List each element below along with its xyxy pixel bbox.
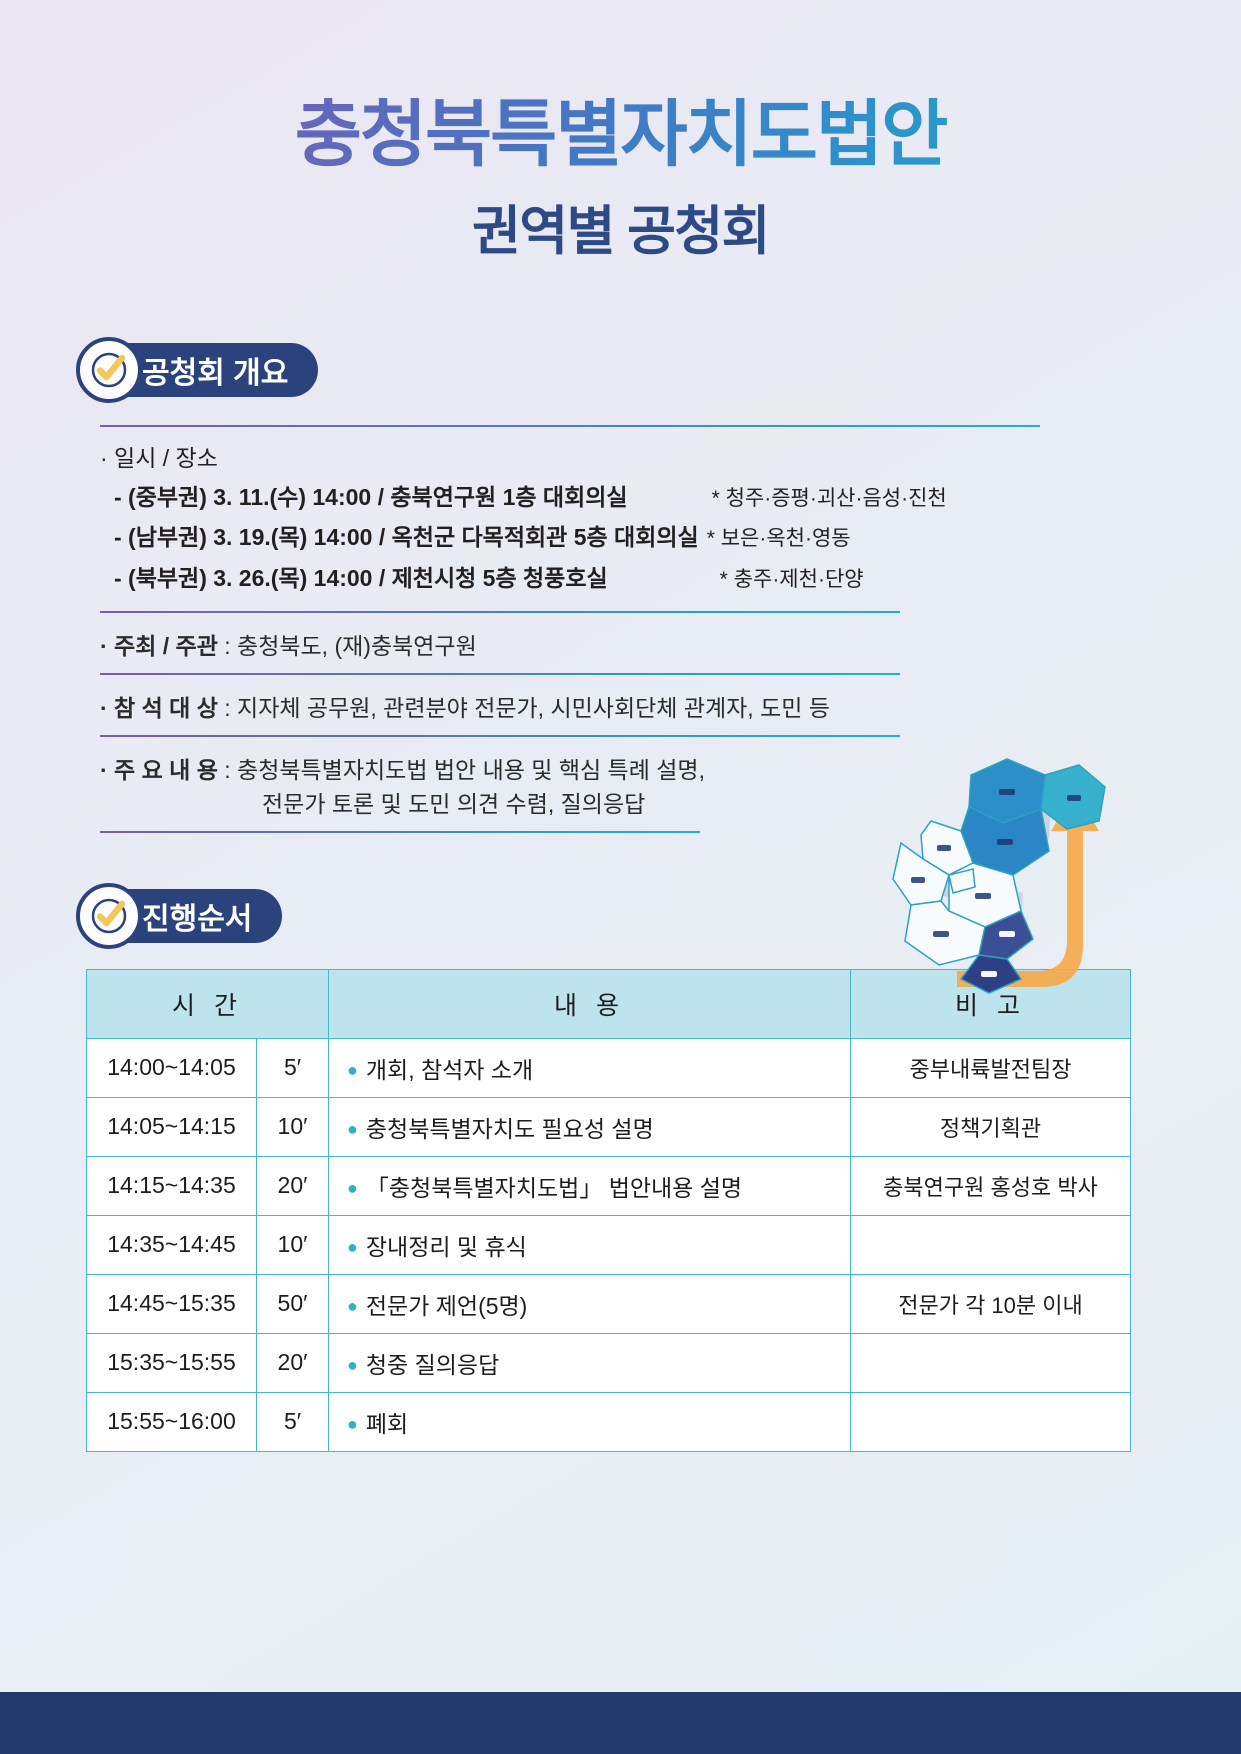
contents-block: · 주 요 내 용 : 충청북특별자치도법 법안 내용 및 핵심 특례 설명, …: [100, 737, 1131, 831]
table-row: 15:55~16:00 5′ ●폐회: [87, 1392, 1131, 1451]
contents-value-line2: 전문가 토론 및 도민 의견 수렴, 질의응답: [100, 785, 1131, 819]
agenda-badge-row: 진행순서: [0, 889, 1241, 943]
cell-remark: [851, 1333, 1131, 1392]
cell-content-text: 「충청북특별자치도법」 법안내용 설명: [366, 1175, 742, 1201]
bullet-icon: ●: [347, 1060, 358, 1080]
section-badge-agenda: 진행순서: [86, 889, 282, 943]
agenda-table-body: 14:00~14:05 5′ ●개회, 참석자 소개 중부내륙발전팀장 14:0…: [87, 1038, 1131, 1451]
cell-remark: 중부내륙발전팀장: [851, 1038, 1131, 1097]
section-badge-overview-label: 공청회 개요: [142, 348, 288, 392]
attendees-label: · 참 석 대 상: [100, 695, 218, 721]
cell-content-text: 전문가 제언(5명): [366, 1293, 527, 1319]
cell-content: ●충청북특별자치도 필요성 설명: [329, 1097, 851, 1156]
cell-time: 15:55~16:00: [87, 1392, 257, 1451]
column-header-content: 내 용: [329, 969, 851, 1038]
cell-content: ●장내정리 및 휴식: [329, 1215, 851, 1274]
attendees-line: · 참 석 대 상 : 지자체 공무원, 관련분야 전문가, 시민사회단체 관계…: [100, 689, 1131, 723]
cell-content: ●청중 질의응답: [329, 1333, 851, 1392]
table-row: 15:35~15:55 20′ ●청중 질의응답: [87, 1333, 1131, 1392]
contents-label: · 주 요 내 용: [100, 757, 218, 783]
column-header-time: 시 간: [87, 969, 329, 1038]
page-title: 충청북특별자치도법안: [0, 98, 1241, 171]
schedule-row-1: - (중부권) 3. 11.(수) 14:00 / 충북연구원 1층 대회의실 …: [100, 477, 1131, 518]
host-block: · 주최 / 주관 : 충청북도, (재)충북연구원: [100, 613, 1131, 673]
cell-time: 14:45~15:35: [87, 1274, 257, 1333]
cell-content: ●개회, 참석자 소개: [329, 1038, 851, 1097]
table-row: 14:15~14:35 20′ ●「충청북특별자치도법」 법안내용 설명 충북연…: [87, 1156, 1131, 1215]
cell-remark: 전문가 각 10분 이내: [851, 1274, 1131, 1333]
overview-section: · 일시 / 장소 - (중부권) 3. 11.(수) 14:00 / 충북연구…: [0, 425, 1241, 833]
datetime-block: · 일시 / 장소 - (중부권) 3. 11.(수) 14:00 / 충북연구…: [100, 427, 1131, 611]
schedule-row-2: - (남부권) 3. 19.(목) 14:00 / 옥천군 다목적회관 5층 대…: [100, 517, 1131, 558]
schedule-row-3: - (북부권) 3. 26.(목) 14:00 / 제천시청 5층 청풍호실 *…: [100, 558, 1131, 599]
schedule-note-2: * 보은·옥천·영동: [707, 521, 851, 558]
table-row: 14:45~15:35 50′ ●전문가 제언(5명) 전문가 각 10분 이내: [87, 1274, 1131, 1333]
cell-duration: 5′: [257, 1038, 329, 1097]
bullet-icon: ●: [347, 1355, 358, 1375]
schedule-note-1: * 청주·증평·괴산·음성·진천: [712, 481, 947, 518]
cell-duration: 10′: [257, 1097, 329, 1156]
check-circle-icon: [76, 337, 142, 403]
contents-value-line1: : 충청북특별자치도법 법안 내용 및 핵심 특례 설명,: [224, 757, 705, 783]
cell-content-text: 개회, 참석자 소개: [366, 1057, 533, 1083]
cell-duration: 20′: [257, 1156, 329, 1215]
schedule-note-3: * 충주·제천·단양: [720, 562, 864, 599]
footer-bar: [0, 1692, 1241, 1754]
host-value: : 충청북도, (재)충북연구원: [224, 633, 476, 659]
section-badge-agenda-label: 진행순서: [142, 894, 252, 938]
agenda-table: 시 간 내 용 비 고 14:00~14:05 5′ ●개회, 참석자 소개 중…: [86, 969, 1131, 1452]
schedule-main-2: - (남부권) 3. 19.(목) 14:00 / 옥천군 다목적회관 5층 대…: [114, 517, 699, 557]
bullet-icon: ●: [347, 1296, 358, 1316]
overview-badge-row: 공청회 개요: [0, 343, 1241, 397]
cell-duration: 50′: [257, 1274, 329, 1333]
cell-remark: [851, 1215, 1131, 1274]
cell-content-text: 충청북특별자치도 필요성 설명: [366, 1116, 654, 1142]
datetime-label: · 일시 / 장소: [100, 441, 1131, 477]
attendees-value: : 지자체 공무원, 관련분야 전문가, 시민사회단체 관계자, 도민 등: [224, 695, 830, 721]
host-label: · 주최 / 주관: [100, 633, 218, 659]
cell-remark: [851, 1392, 1131, 1451]
cell-time: 14:35~14:45: [87, 1215, 257, 1274]
cell-content: ●폐회: [329, 1392, 851, 1451]
contents-line-1: · 주 요 내 용 : 충청북특별자치도법 법안 내용 및 핵심 특례 설명,: [100, 751, 1131, 785]
divider-bottom: [100, 831, 700, 833]
cell-content-text: 청중 질의응답: [366, 1352, 499, 1378]
bullet-icon: ●: [347, 1119, 358, 1139]
bullet-icon: ●: [347, 1414, 358, 1434]
schedule-main-3: - (북부권) 3. 26.(목) 14:00 / 제천시청 5층 청풍호실: [114, 558, 608, 598]
host-line: · 주최 / 주관 : 충청북도, (재)충북연구원: [100, 627, 1131, 661]
attendees-block: · 참 석 대 상 : 지자체 공무원, 관련분야 전문가, 시민사회단체 관계…: [100, 675, 1131, 735]
cell-time: 14:00~14:05: [87, 1038, 257, 1097]
cell-content-text: 폐회: [366, 1411, 408, 1437]
cell-content-text: 장내정리 및 휴식: [366, 1234, 527, 1260]
cell-remark: 정책기획관: [851, 1097, 1131, 1156]
column-header-remark: 비 고: [851, 969, 1131, 1038]
page-subtitle: 권역별 공청회: [0, 189, 1241, 265]
cell-time: 15:35~15:55: [87, 1333, 257, 1392]
table-row: 14:05~14:15 10′ ●충청북특별자치도 필요성 설명 정책기획관: [87, 1097, 1131, 1156]
cell-content: ●전문가 제언(5명): [329, 1274, 851, 1333]
cell-remark: 충북연구원 홍성호 박사: [851, 1156, 1131, 1215]
cell-content: ●「충청북특별자치도법」 법안내용 설명: [329, 1156, 851, 1215]
cell-duration: 10′: [257, 1215, 329, 1274]
table-row: 14:35~14:45 10′ ●장내정리 및 휴식: [87, 1215, 1131, 1274]
cell-time: 14:05~14:15: [87, 1097, 257, 1156]
bullet-icon: ●: [347, 1237, 358, 1257]
schedule-main-1: - (중부권) 3. 11.(수) 14:00 / 충북연구원 1층 대회의실: [114, 477, 628, 517]
agenda-table-wrap: 시 간 내 용 비 고 14:00~14:05 5′ ●개회, 참석자 소개 중…: [0, 969, 1241, 1452]
check-circle-icon: [76, 883, 142, 949]
bullet-icon: ●: [347, 1178, 358, 1198]
cell-time: 14:15~14:35: [87, 1156, 257, 1215]
agenda-table-head: 시 간 내 용 비 고: [87, 969, 1131, 1038]
cell-duration: 20′: [257, 1333, 329, 1392]
table-header-row: 시 간 내 용 비 고: [87, 969, 1131, 1038]
cell-duration: 5′: [257, 1392, 329, 1451]
poster-header: 충청북특별자치도법안 권역별 공청회: [0, 0, 1241, 265]
table-row: 14:00~14:05 5′ ●개회, 참석자 소개 중부내륙발전팀장: [87, 1038, 1131, 1097]
section-badge-overview: 공청회 개요: [86, 343, 318, 397]
